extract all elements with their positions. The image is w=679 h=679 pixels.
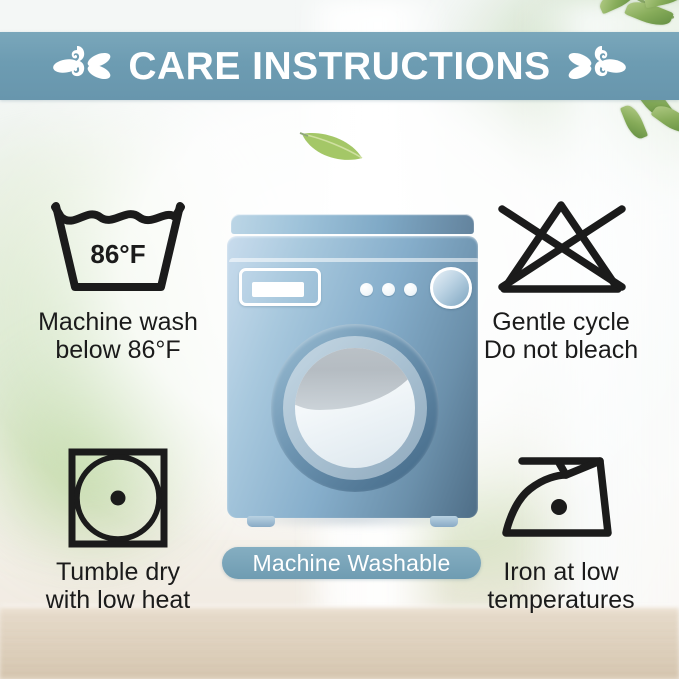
tumble-dry-icon <box>3 442 233 552</box>
care-instructions-infographic: CARE INSTRUCTIONS 86°F Machine wash belo… <box>0 0 679 679</box>
care-symbol-tumble-dry: Tumble dry with low heat <box>3 442 233 614</box>
background-table-grain <box>0 612 679 679</box>
washing-machine-panel-seam <box>229 258 480 262</box>
control-dial <box>430 267 472 309</box>
control-button-1 <box>360 283 373 296</box>
care-symbol-caption: Machine wash below 86°F <box>3 308 233 364</box>
washing-machine-foot-right <box>430 516 458 527</box>
iron-icon <box>446 442 676 552</box>
machine-washable-badge-label: Machine Washable <box>253 550 451 577</box>
control-button-2 <box>382 283 395 296</box>
washing-machine-lid <box>231 214 474 234</box>
fleur-de-lis-icon-right <box>567 46 629 86</box>
care-symbol-caption: Tumble dry with low heat <box>3 558 233 614</box>
machine-washable-badge: Machine Washable <box>222 547 481 579</box>
wash-tub-icon: 86°F <box>3 192 233 302</box>
control-button-3 <box>404 283 417 296</box>
washing-machine-illustration <box>225 214 480 524</box>
floating-leaf-icon <box>298 124 366 166</box>
washing-machine-body <box>227 236 478 518</box>
detergent-drawer-slot <box>252 282 304 297</box>
wash-temperature-value: 86°F <box>90 239 145 269</box>
care-symbol-gentle-no-bleach: Gentle cycle Do not bleach <box>446 192 676 364</box>
washing-machine-foot-left <box>247 516 275 527</box>
fleur-de-lis-icon-left <box>50 46 112 86</box>
crossed-triangle-icon <box>446 192 676 302</box>
care-symbol-iron: Iron at low temperatures <box>446 442 676 614</box>
banner-title: CARE INSTRUCTIONS <box>128 47 550 86</box>
header-banner: CARE INSTRUCTIONS <box>0 32 679 100</box>
care-symbol-caption: Gentle cycle Do not bleach <box>446 308 676 364</box>
care-symbol-machine-wash: 86°F Machine wash below 86°F <box>3 192 233 364</box>
door-glass <box>295 348 415 468</box>
detergent-drawer <box>239 268 321 306</box>
door-glass-reflection <box>295 348 415 410</box>
